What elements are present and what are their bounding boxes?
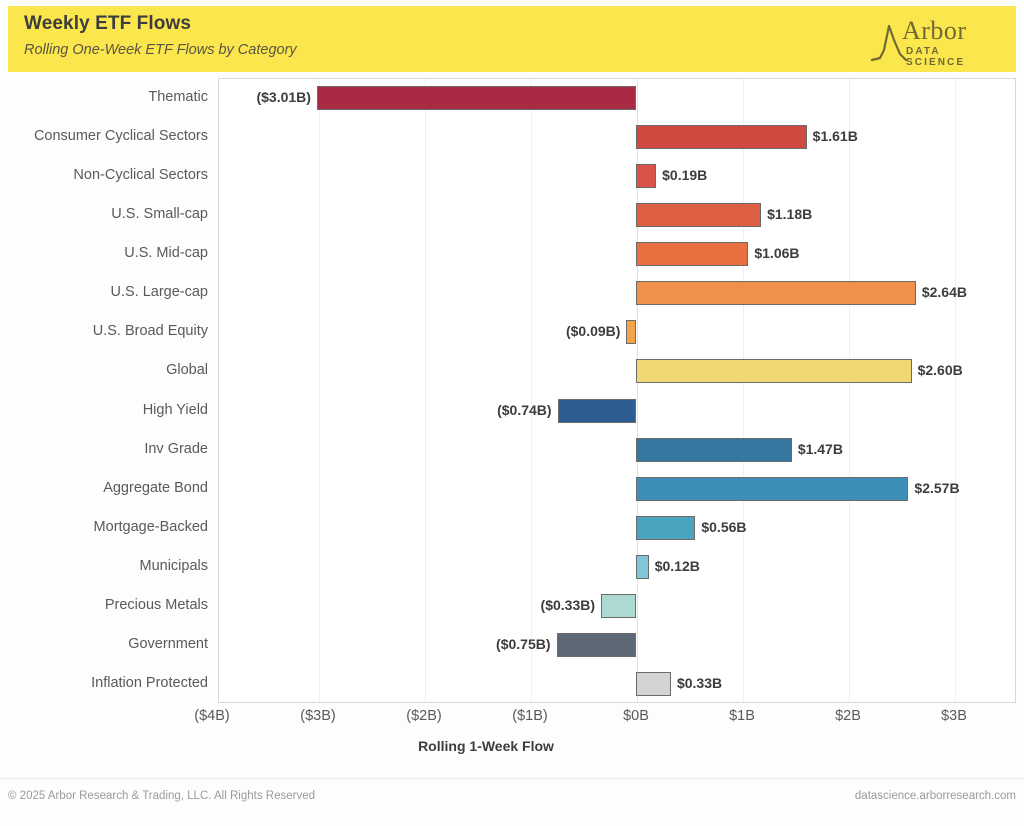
bar[interactable] [636, 125, 807, 149]
bar-value-label: $2.57B [914, 480, 959, 496]
category-label: Aggregate Bond [0, 480, 208, 496]
bar[interactable] [558, 399, 636, 423]
logo-tagline: DATA SCIENCE [906, 46, 1002, 68]
category-label: Municipals [0, 558, 208, 574]
x-axis-title-text: Rolling 1-Week Flow [418, 738, 554, 754]
page-title: Weekly ETF Flows [24, 13, 191, 35]
x-tick-label: ($2B) [406, 708, 441, 724]
chart-row: High Yield($0.74B) [0, 391, 1024, 430]
chart-page: Weekly ETF Flows Rolling One-Week ETF Fl… [0, 0, 1024, 826]
x-tick-label: ($3B) [300, 708, 335, 724]
bar-value-label: ($0.75B) [0, 636, 551, 652]
bar-value-label: $2.64B [922, 284, 967, 300]
bar[interactable] [636, 242, 748, 266]
chart-row: Inflation Protected$0.33B [0, 664, 1024, 703]
page-subtitle: Rolling One-Week ETF Flows by Category [24, 42, 297, 58]
bar-value-label: $0.33B [677, 675, 722, 691]
bar-value-label: ($0.33B) [0, 597, 595, 613]
chart-row: Government($0.75B) [0, 625, 1024, 664]
header-banner: Weekly ETF Flows Rolling One-Week ETF Fl… [8, 6, 1016, 72]
category-label: Non-Cyclical Sectors [0, 167, 208, 183]
category-label: Consumer Cyclical Sectors [0, 128, 208, 144]
bar[interactable] [636, 203, 761, 227]
category-label: Mortgage-Backed [0, 519, 208, 535]
bar[interactable] [636, 164, 656, 188]
footer-website: datascience.arborresearch.com [855, 790, 1016, 802]
x-axis-title: Rolling 1-Week Flow [0, 738, 1024, 754]
chart-row: U.S. Mid-cap$1.06B [0, 234, 1024, 273]
bar-value-label: $1.61B [813, 128, 858, 144]
category-label: U.S. Mid-cap [0, 245, 208, 261]
footer-divider [0, 778, 1024, 779]
bar-value-label: $0.12B [655, 558, 700, 574]
chart-row: Thematic($3.01B) [0, 78, 1024, 117]
x-tick-label: $0B [623, 708, 649, 724]
bar-value-label: $0.56B [701, 519, 746, 535]
bar[interactable] [636, 438, 792, 462]
chart-row: Non-Cyclical Sectors$0.19B [0, 156, 1024, 195]
x-tick-label: $1B [729, 708, 755, 724]
chart-row: U.S. Broad Equity($0.09B) [0, 312, 1024, 351]
x-tick-label: ($1B) [512, 708, 547, 724]
bar[interactable] [636, 516, 695, 540]
bar-value-label: $1.47B [798, 441, 843, 457]
arbor-logo: Arbor DATA SCIENCE [870, 18, 1002, 66]
chart-row: Mortgage-Backed$0.56B [0, 508, 1024, 547]
chart-row: Aggregate Bond$2.57B [0, 469, 1024, 508]
x-tick-label: ($4B) [194, 708, 229, 724]
chart-row: Inv Grade$1.47B [0, 430, 1024, 469]
chart-row: Global$2.60B [0, 351, 1024, 390]
bar[interactable] [636, 359, 912, 383]
bar-value-label: ($3.01B) [0, 89, 311, 105]
bar-value-label: $0.19B [662, 167, 707, 183]
chart-row: Municipals$0.12B [0, 547, 1024, 586]
bar[interactable] [317, 86, 636, 110]
bar[interactable] [626, 320, 636, 344]
category-label: Inflation Protected [0, 675, 208, 691]
category-label: U.S. Small-cap [0, 206, 208, 222]
category-label: Inv Grade [0, 441, 208, 457]
bar[interactable] [636, 477, 908, 501]
bar-value-label: $2.60B [918, 362, 963, 378]
footer-copyright: © 2025 Arbor Research & Trading, LLC. Al… [8, 790, 315, 802]
bar-value-label: ($0.74B) [0, 402, 552, 418]
chart-row: U.S. Small-cap$1.18B [0, 195, 1024, 234]
bar-value-label: $1.06B [754, 245, 799, 261]
x-tick-label: $2B [835, 708, 861, 724]
x-tick-label: $3B [941, 708, 967, 724]
bar[interactable] [636, 672, 671, 696]
bar-value-label: ($0.09B) [0, 323, 620, 339]
logo-wordmark: Arbor [902, 16, 967, 46]
chart-row: Precious Metals($0.33B) [0, 586, 1024, 625]
bar[interactable] [636, 281, 916, 305]
bar[interactable] [636, 555, 649, 579]
bar[interactable] [557, 633, 637, 657]
bar[interactable] [601, 594, 636, 618]
chart-row: U.S. Large-cap$2.64B [0, 273, 1024, 312]
category-label: U.S. Large-cap [0, 284, 208, 300]
bar-value-label: $1.18B [767, 206, 812, 222]
category-label: Global [0, 362, 208, 378]
chart-row: Consumer Cyclical Sectors$1.61B [0, 117, 1024, 156]
